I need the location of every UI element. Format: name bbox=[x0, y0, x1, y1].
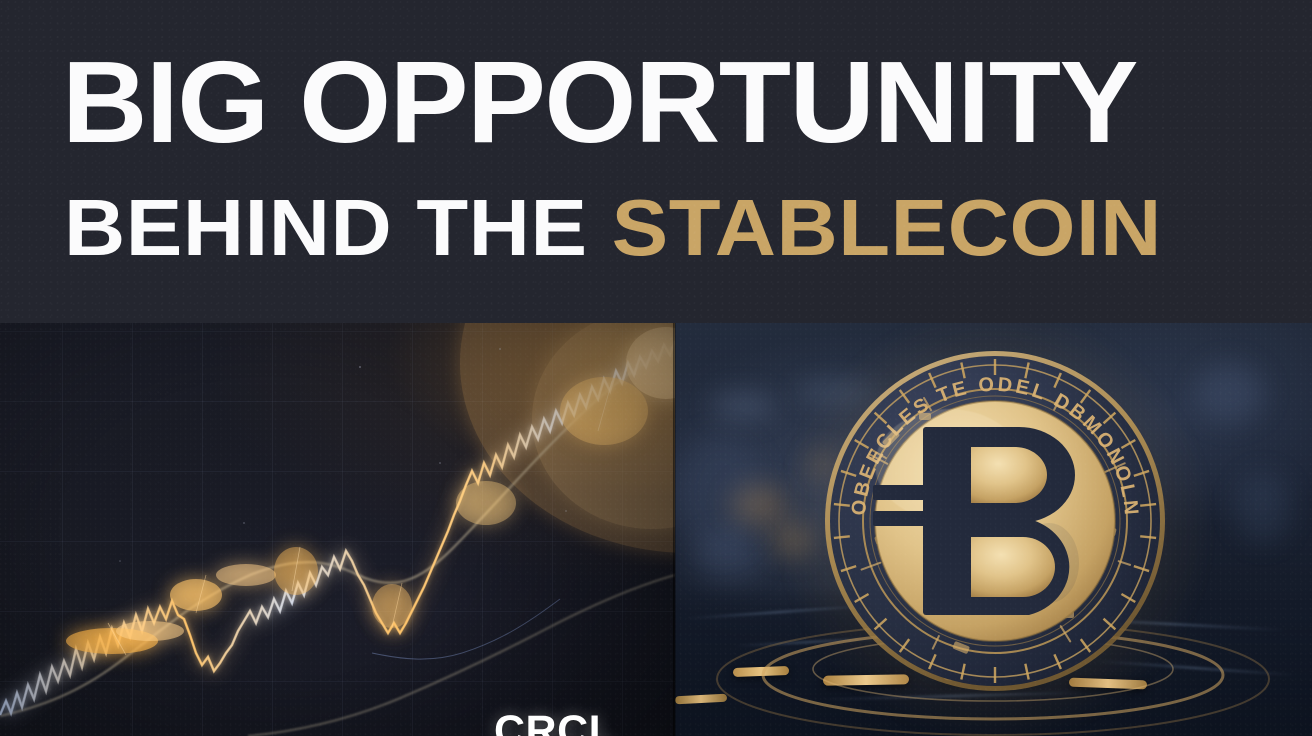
stablecoin-coin: MOBEECLES TE ODEL DBMONOLND RJOCN bbox=[823, 349, 1167, 693]
stablecoin-panel: MOBEECLES TE ODEL DBMONOLND RJOCN bbox=[675, 323, 1312, 736]
chart-ticker-label: CRCL bbox=[494, 707, 615, 736]
headline-line-2: BEHIND THE STABLECOIN bbox=[64, 188, 1162, 268]
headline-line-2-gold: STABLECOIN bbox=[612, 183, 1162, 272]
headline-line-2-white: BEHIND THE bbox=[64, 183, 612, 272]
stock-chart-panel: CRCL bbox=[0, 323, 675, 736]
image-panels: CRCL bbox=[0, 323, 1312, 736]
coin-graphic: MOBEECLES TE ODEL DBMONOLND RJOCN bbox=[823, 349, 1167, 693]
chart-graphic bbox=[0, 323, 675, 736]
thumbnail-canvas: BIG OPPORTUNITY BEHIND THE STABLECOIN bbox=[0, 0, 1312, 736]
title-header: BIG OPPORTUNITY BEHIND THE STABLECOIN bbox=[0, 0, 1312, 323]
headline-line-1: BIG OPPORTUNITY bbox=[62, 44, 1137, 160]
panel-divider bbox=[673, 323, 676, 736]
